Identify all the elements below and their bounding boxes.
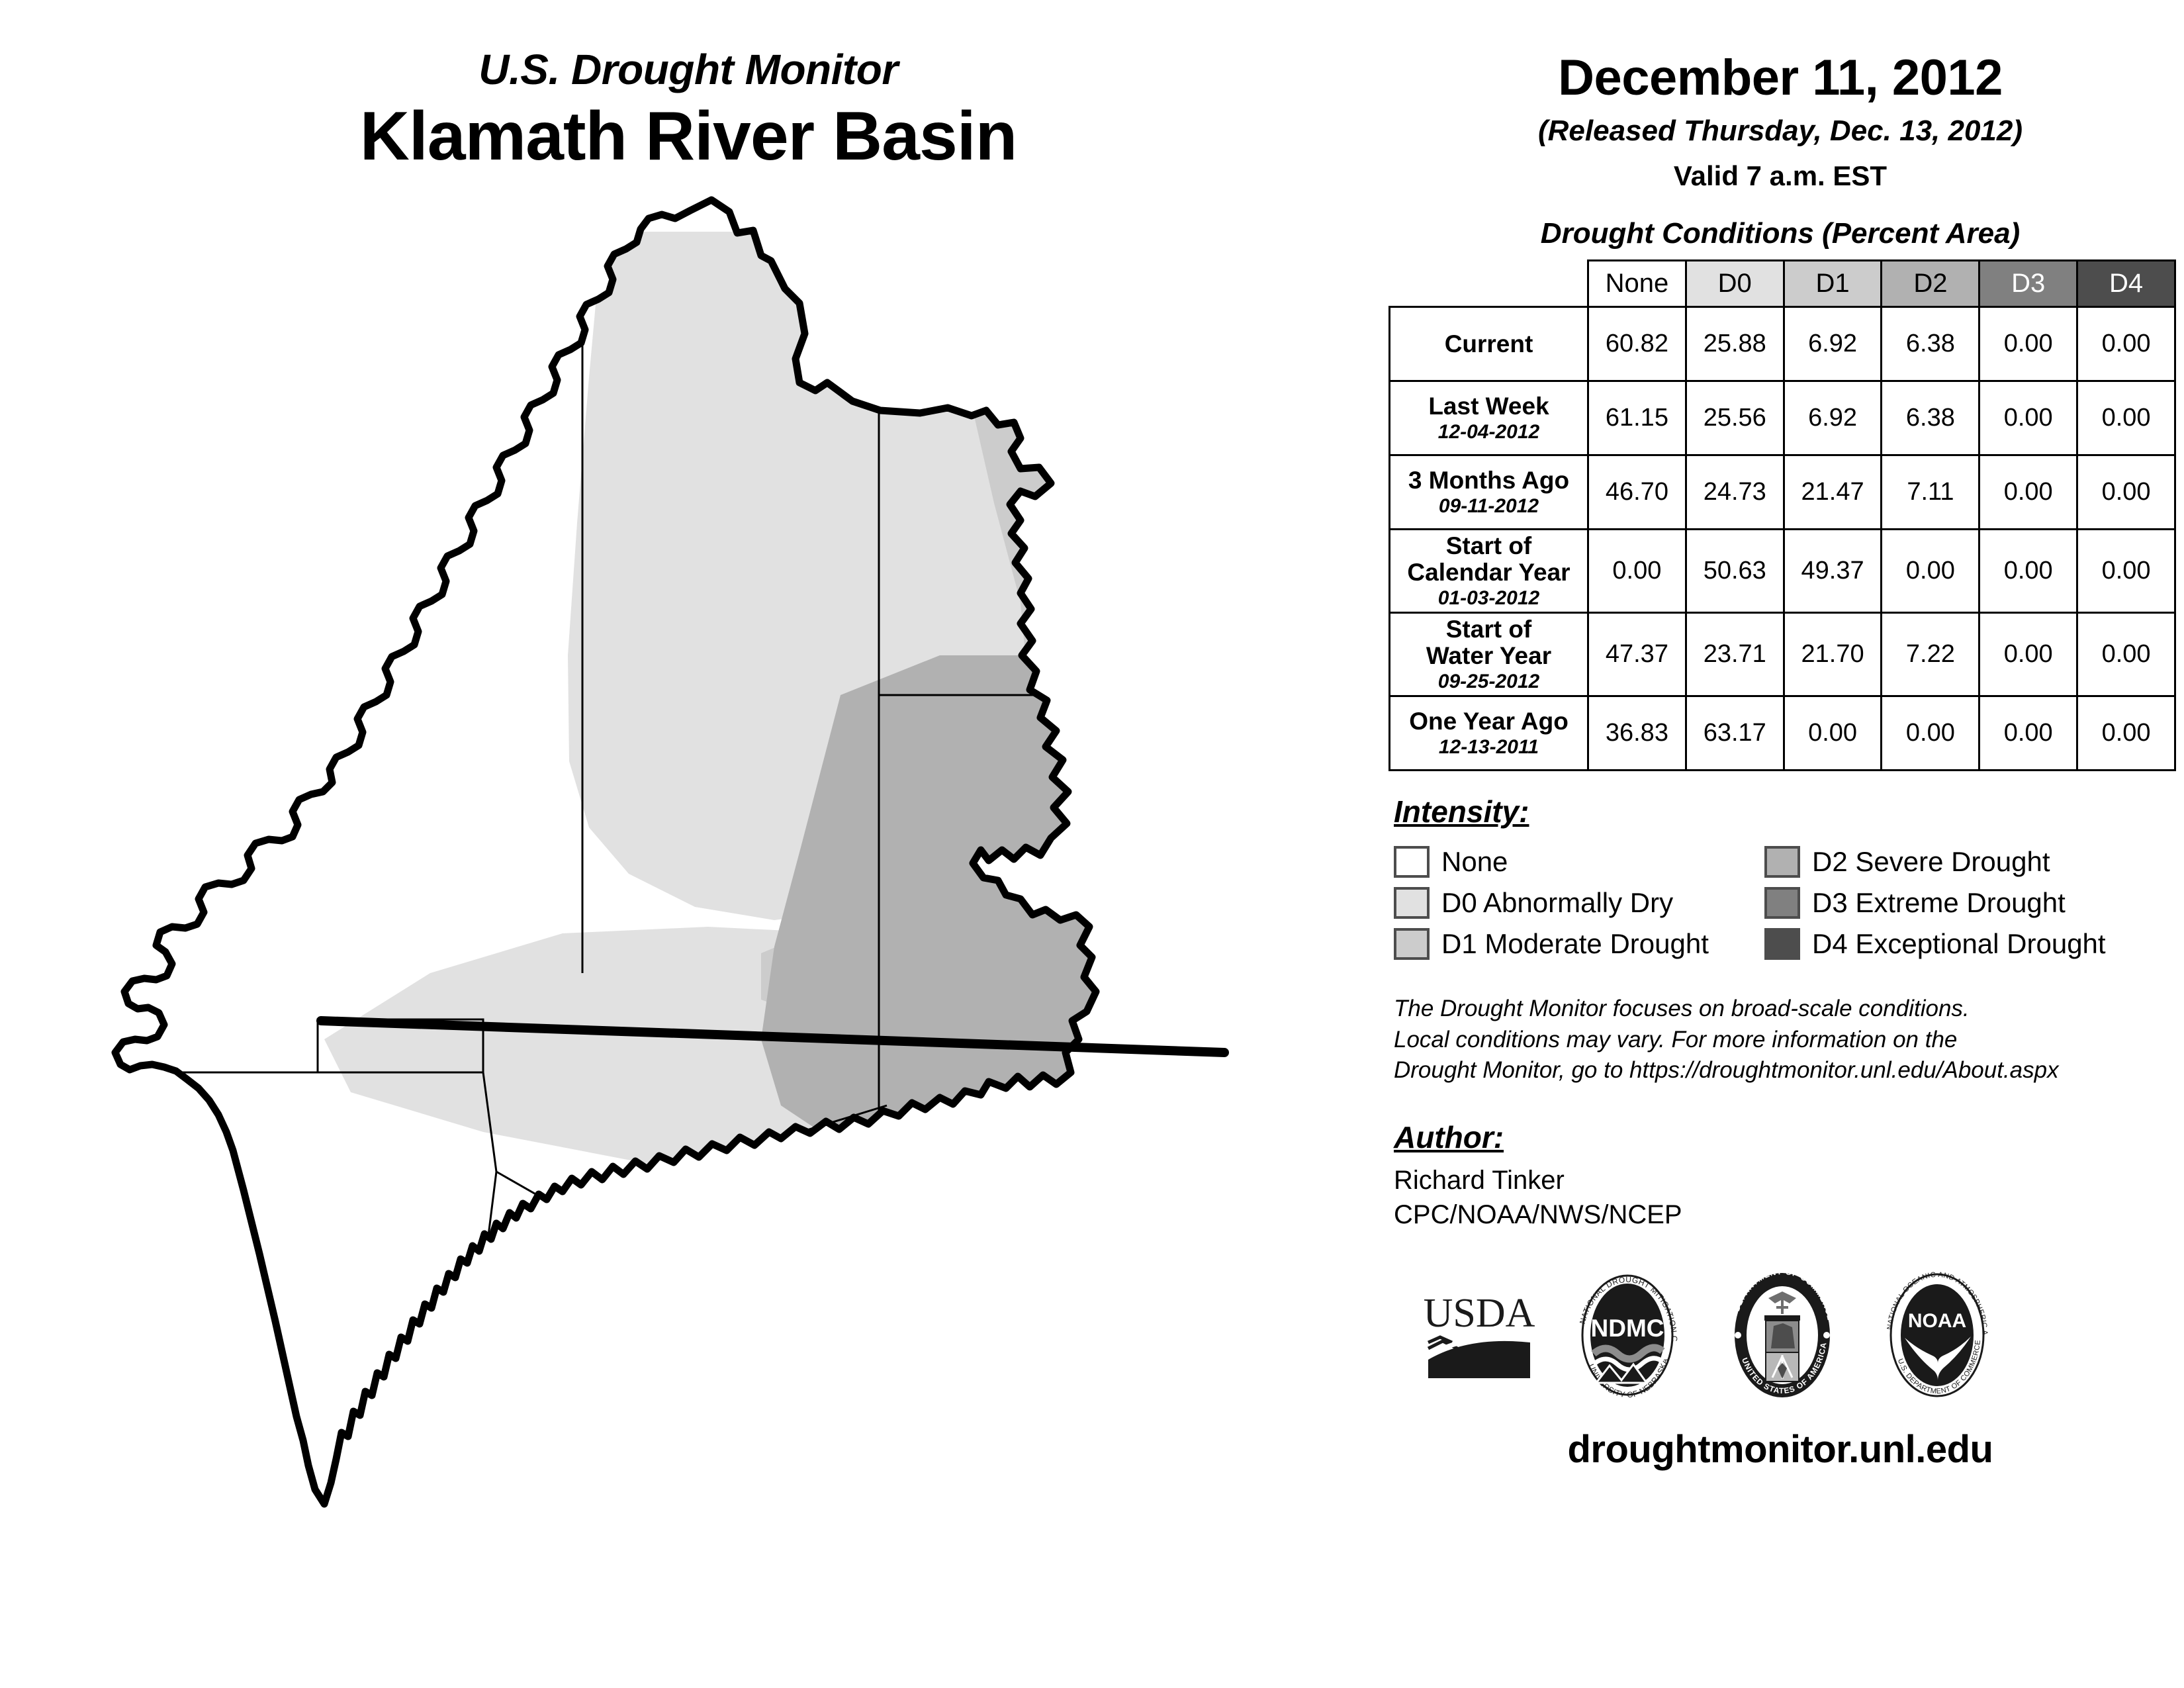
doc-seal-logo: DEPARTMENT OF COMMERCE UNITED STATES OF … (1719, 1269, 1845, 1405)
intensity-title: Intensity: (1394, 794, 1529, 829)
cell-d1: 21.47 (1784, 455, 1882, 530)
cell-d0: 25.56 (1686, 381, 1784, 455)
map-subtitle: U.S. Drought Monitor (0, 46, 1377, 93)
row-label-name: Last Week (1394, 393, 1583, 420)
cell-d2: 7.11 (1882, 455, 1979, 530)
cell-d3: 0.00 (1979, 455, 2077, 530)
cell-d0: 24.73 (1686, 455, 1784, 530)
cell-none: 61.15 (1588, 381, 1686, 455)
table-row: 3 Months Ago09-11-201246.7024.7321.477.1… (1390, 455, 2175, 530)
legend-label-d4: D4 Exceptional Drought (1812, 930, 2106, 958)
column-header-d2: D2 (1882, 261, 1979, 307)
site-url[interactable]: droughtmonitor.unl.edu (1377, 1427, 2184, 1472)
ndmc-logo: NATIONAL DROUGHT MITIGATION CENTER UNIVE… (1565, 1269, 1690, 1405)
legend-swatch-d2 (1764, 846, 1800, 878)
map-title-block: U.S. Drought Monitor Klamath River Basin (0, 46, 1377, 175)
cell-d4: 0.00 (2077, 455, 2175, 530)
usda-logo: USDA (1423, 1286, 1535, 1388)
author-block: Author: Richard Tinker CPC/NOAA/NWS/NCEP (1377, 1119, 2184, 1232)
cell-none: 46.70 (1588, 455, 1686, 530)
row-label-name: Start ofCalendar Year (1394, 533, 1583, 586)
cell-d2: 6.38 (1882, 381, 1979, 455)
disclaimer-line-2: Local conditions may vary. For more info… (1394, 1025, 2184, 1056)
cell-d4: 0.00 (2077, 381, 2175, 455)
disclaimer-line-3: Drought Monitor, go to https://droughtmo… (1394, 1055, 2184, 1086)
table-row: Start ofCalendar Year01-03-20120.0050.63… (1390, 530, 2175, 613)
row-label-cell: Last Week12-04-2012 (1390, 381, 1588, 455)
column-header-d0: D0 (1686, 261, 1784, 307)
cell-d1: 49.37 (1784, 530, 1882, 613)
cell-d4: 0.00 (2077, 613, 2175, 696)
released-line: (Released Thursday, Dec. 13, 2012) (1377, 115, 2184, 147)
legend-label-d0: D0 Abnormally Dry (1441, 889, 1673, 917)
row-label-cell: Start ofCalendar Year01-03-2012 (1390, 530, 1588, 613)
author-name: Richard Tinker (1394, 1163, 2184, 1197)
cell-d3: 0.00 (1979, 530, 2077, 613)
disclaimer-line-1: The Drought Monitor focuses on broad-sca… (1394, 994, 2184, 1025)
row-label-date: 01-03-2012 (1394, 587, 1583, 609)
cell-d3: 0.00 (1979, 613, 2077, 696)
table-row: One Year Ago12-13-201136.8363.170.000.00… (1390, 696, 2175, 771)
column-header-d3: D3 (1979, 261, 2077, 307)
noaa-logo: NATIONAL OCEANIC AND ATMOSPHERIC ADMINIS… (1874, 1269, 2000, 1405)
drought-conditions-table: None D0 D1 D2 D3 D4 Current60.8225.886.9… (1388, 259, 2176, 771)
legend-swatch-none (1394, 846, 1430, 878)
cell-d2: 6.38 (1882, 307, 1979, 381)
disclaimer-text: The Drought Monitor focuses on broad-sca… (1377, 994, 2184, 1086)
logo-row: USDA NATIONAL DROUGHT MITIGATION CENTER (1377, 1269, 2184, 1405)
cell-none: 0.00 (1588, 530, 1686, 613)
cell-d2: 0.00 (1882, 530, 1979, 613)
table-row: Last Week12-04-201261.1525.566.926.380.0… (1390, 381, 2175, 455)
cell-d3: 0.00 (1979, 307, 2077, 381)
table-body: Current60.8225.886.926.380.000.00Last We… (1390, 307, 2175, 771)
table-row: Start ofWater Year09-25-201247.3723.7121… (1390, 613, 2175, 696)
row-label-date: 12-13-2011 (1394, 736, 1583, 758)
legend-label-d3: D3 Extreme Drought (1812, 889, 2066, 917)
svg-text:NDMC: NDMC (1591, 1315, 1664, 1342)
cell-d4: 0.00 (2077, 696, 2175, 771)
legend-label-d1: D1 Moderate Drought (1441, 930, 1709, 958)
cell-d0: 63.17 (1686, 696, 1784, 771)
row-label-name: Current (1394, 331, 1583, 357)
column-header-none: None (1588, 261, 1686, 307)
legend-label-none: None (1441, 848, 1508, 876)
legend-item-d0[interactable]: D0 Abnormally Dry (1394, 887, 1764, 919)
cell-d2: 0.00 (1882, 696, 1979, 771)
column-header-d4: D4 (2077, 261, 2175, 307)
row-label-date: 09-11-2012 (1394, 495, 1583, 517)
legend-item-none[interactable]: None (1394, 846, 1764, 878)
cell-d3: 0.00 (1979, 381, 2077, 455)
cell-d4: 0.00 (2077, 307, 2175, 381)
row-label-name: One Year Ago (1394, 708, 1583, 735)
svg-text:NOAA: NOAA (1908, 1310, 1966, 1332)
cell-d0: 23.71 (1686, 613, 1784, 696)
row-label-date: 12-04-2012 (1394, 421, 1583, 443)
klamath-river-basin-map[interactable] (60, 192, 1317, 1516)
release-date: December 11, 2012 (1377, 53, 2184, 103)
legend-grid: NoneD2 Severe DroughtD0 Abnormally DryD3… (1394, 841, 2184, 964)
table-header: None D0 D1 D2 D3 D4 (1390, 261, 2175, 307)
cell-d0: 25.88 (1686, 307, 1784, 381)
cell-d4: 0.00 (2077, 530, 2175, 613)
column-header-d1: D1 (1784, 261, 1882, 307)
author-affiliation: CPC/NOAA/NWS/NCEP (1394, 1197, 2184, 1232)
date-block: December 11, 2012 (Released Thursday, De… (1377, 0, 2184, 192)
drought-conditions-table-wrap: None D0 D1 D2 D3 D4 Current60.8225.886.9… (1377, 259, 2184, 771)
page-title: Klamath River Basin (0, 98, 1377, 175)
row-label-cell: 3 Months Ago09-11-2012 (1390, 455, 1588, 530)
cell-d1: 6.92 (1784, 381, 1882, 455)
legend-item-d1[interactable]: D1 Moderate Drought (1394, 928, 1764, 960)
cell-none: 60.82 (1588, 307, 1686, 381)
map-panel: U.S. Drought Monitor Klamath River Basin (0, 0, 1377, 1688)
legend-swatch-d4 (1764, 928, 1800, 960)
corner-cell (1390, 261, 1588, 307)
table-caption: Drought Conditions (Percent Area) (1377, 217, 2184, 250)
intensity-legend: Intensity: NoneD2 Severe DroughtD0 Abnor… (1377, 794, 2184, 964)
legend-item-d4[interactable]: D4 Exceptional Drought (1764, 928, 2161, 960)
row-label-name: 3 Months Ago (1394, 467, 1583, 494)
author-title: Author: (1394, 1119, 1504, 1155)
cell-d3: 0.00 (1979, 696, 2077, 771)
row-label-date: 09-25-2012 (1394, 671, 1583, 692)
legend-swatch-d1 (1394, 928, 1430, 960)
legend-swatch-d0 (1394, 887, 1430, 919)
table-header-row: None D0 D1 D2 D3 D4 (1390, 261, 2175, 307)
legend-item-d3[interactable]: D3 Extreme Drought (1764, 887, 2161, 919)
table-row: Current60.8225.886.926.380.000.00 (1390, 307, 2175, 381)
cell-d0: 50.63 (1686, 530, 1784, 613)
legend-swatch-d3 (1764, 887, 1800, 919)
row-label-cell: Start ofWater Year09-25-2012 (1390, 613, 1588, 696)
cell-none: 47.37 (1588, 613, 1686, 696)
cell-d1: 21.70 (1784, 613, 1882, 696)
cell-d1: 0.00 (1784, 696, 1882, 771)
legend-item-d2[interactable]: D2 Severe Drought (1764, 846, 2161, 878)
cell-none: 36.83 (1588, 696, 1686, 771)
svg-text:USDA: USDA (1424, 1291, 1535, 1336)
info-panel: December 11, 2012 (Released Thursday, De… (1377, 0, 2184, 1688)
row-label-cell: Current (1390, 307, 1588, 381)
valid-line: Valid 7 a.m. EST (1377, 160, 2184, 192)
cell-d1: 6.92 (1784, 307, 1882, 381)
legend-label-d2: D2 Severe Drought (1812, 848, 2050, 876)
row-label-name: Start ofWater Year (1394, 616, 1583, 669)
row-label-cell: One Year Ago12-13-2011 (1390, 696, 1588, 771)
cell-d2: 7.22 (1882, 613, 1979, 696)
